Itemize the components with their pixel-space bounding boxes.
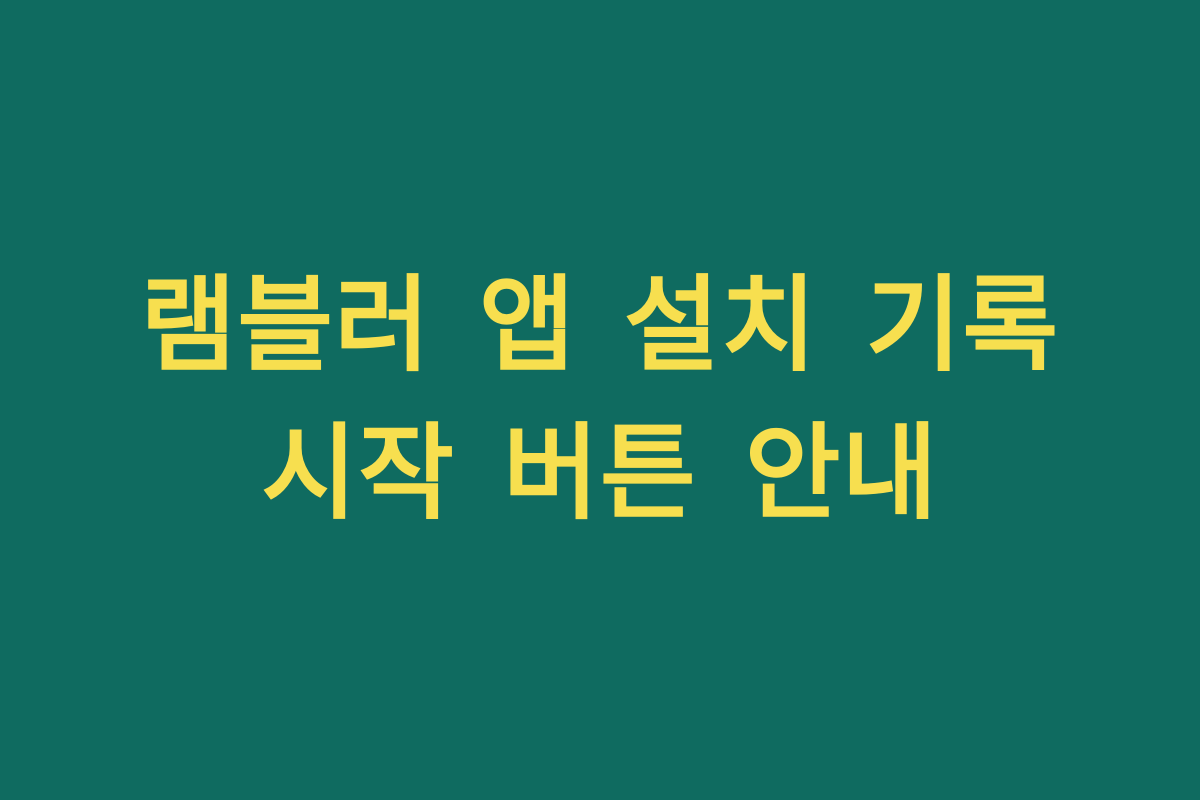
banner-canvas: 램블러 앱 설치 기록 시작 버튼 안내 xyxy=(0,0,1200,800)
banner-headline: 램블러 앱 설치 기록 시작 버튼 안내 xyxy=(100,252,1100,547)
